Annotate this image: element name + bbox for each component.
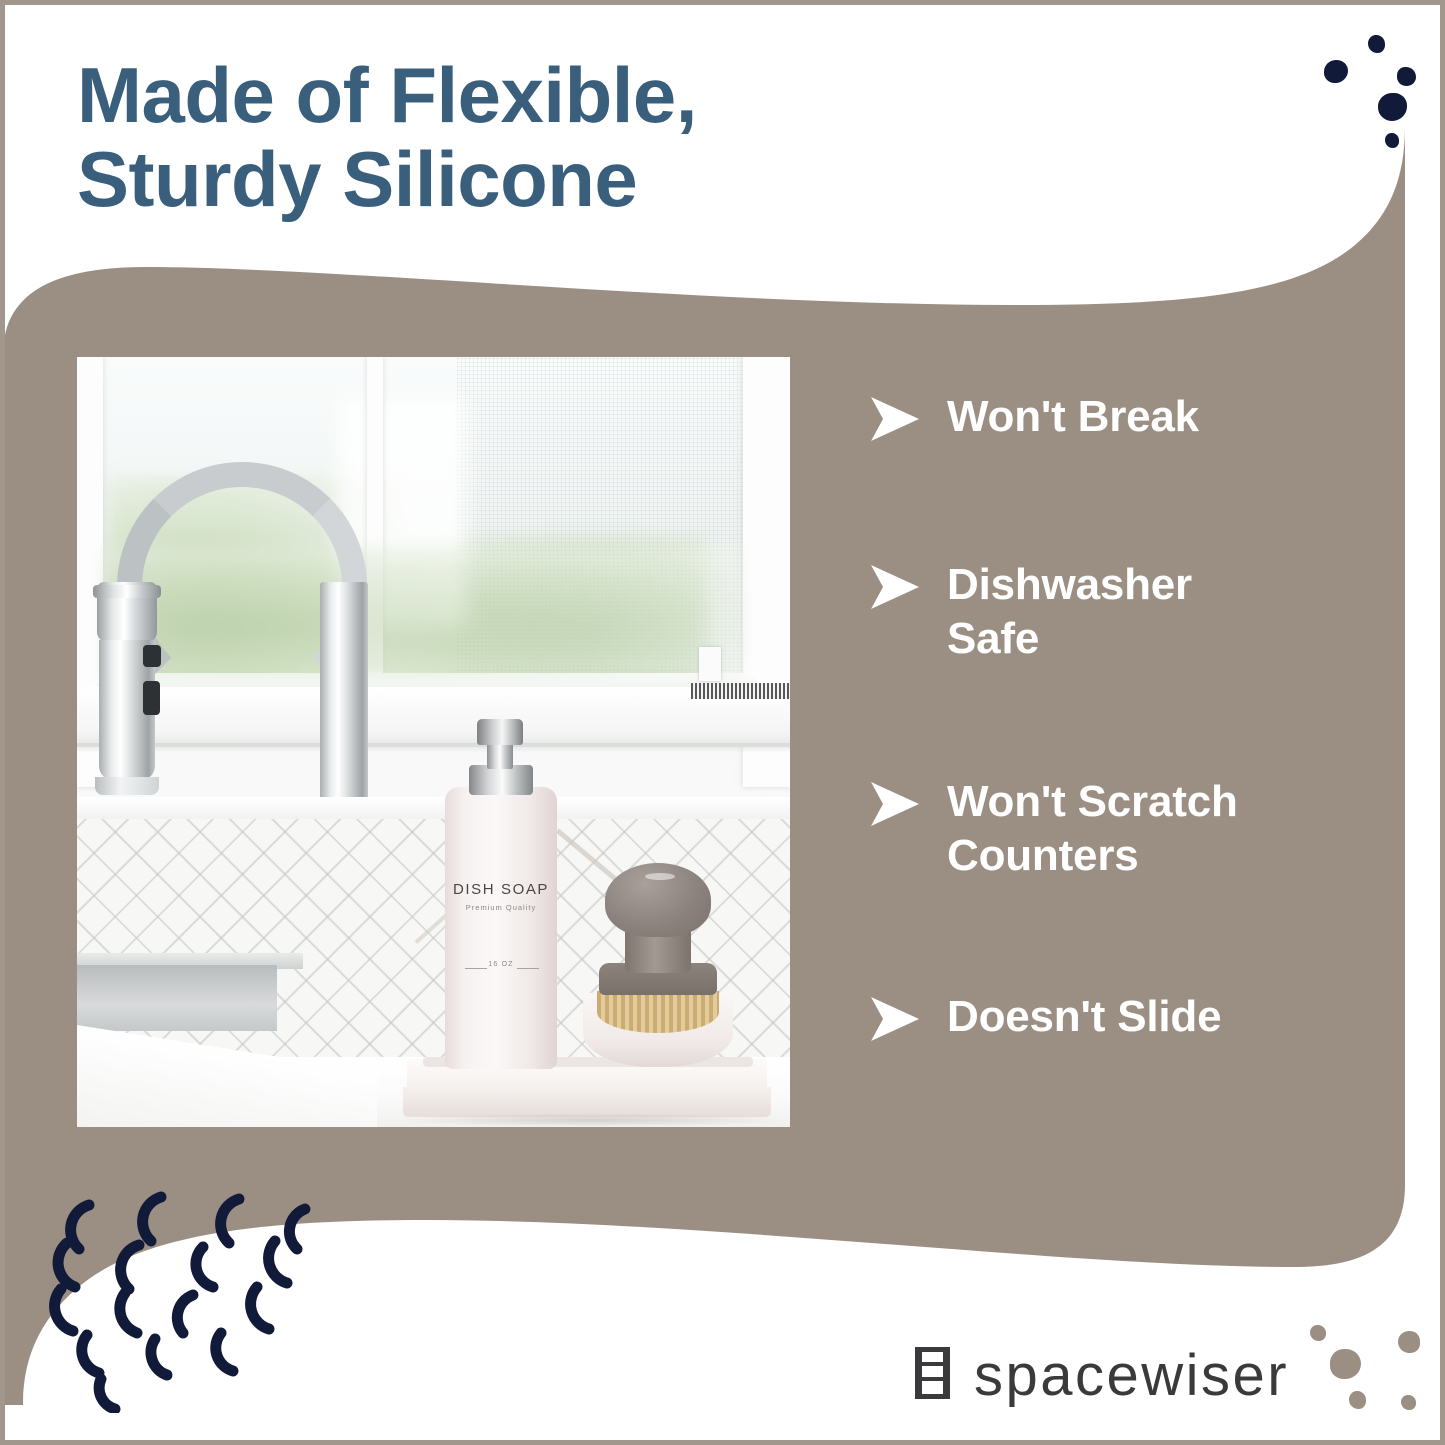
sink-basin bbox=[77, 965, 277, 1031]
decor-dot bbox=[1397, 67, 1416, 86]
tray-shadow bbox=[397, 1113, 787, 1127]
backsplash-ledge bbox=[77, 797, 790, 819]
decor-dot bbox=[1310, 1325, 1326, 1341]
soap-pump-head bbox=[477, 719, 523, 745]
shelf-icon bbox=[910, 1345, 956, 1406]
soap-pump-collar bbox=[469, 765, 533, 795]
decor-dot bbox=[1330, 1349, 1361, 1379]
brush-bristles bbox=[597, 991, 719, 1033]
decor-dot bbox=[1385, 133, 1399, 148]
window-sill-shadow bbox=[77, 743, 790, 753]
feature-label: Won't Break bbox=[947, 390, 1199, 444]
feature-label: Dishwasher Safe bbox=[947, 558, 1277, 665]
feature-item[interactable]: Doesn't Slide bbox=[867, 990, 1221, 1049]
window-sticker bbox=[691, 683, 790, 699]
soap-label-rule bbox=[517, 968, 539, 969]
feature-item[interactable]: Won't Break bbox=[867, 390, 1199, 449]
window-latch bbox=[699, 647, 721, 681]
arrow-right-icon bbox=[867, 394, 923, 449]
arrow-right-icon bbox=[867, 562, 923, 617]
arrow-right-icon bbox=[867, 994, 923, 1049]
faucet-sprayhead-ring bbox=[93, 585, 161, 598]
decor-dot bbox=[1324, 60, 1348, 83]
decor-dot bbox=[1398, 1331, 1420, 1353]
soap-label-subtitle: Premium Quality bbox=[445, 903, 557, 912]
decor-dot bbox=[1368, 35, 1385, 53]
brand-logo[interactable]: spacewiser bbox=[910, 1345, 1289, 1406]
faucet-spray-face bbox=[95, 777, 159, 795]
decor-dot bbox=[1349, 1391, 1366, 1409]
soap-bottle bbox=[445, 787, 557, 1069]
arrow-right-icon bbox=[867, 779, 923, 834]
decor-dot bbox=[1378, 93, 1407, 121]
feature-item[interactable]: Won't Scratch Counters bbox=[867, 775, 1327, 882]
soap-label-volume: 16 OZ bbox=[445, 961, 557, 968]
faucet-mode-button bbox=[143, 681, 160, 715]
decor-dot bbox=[1401, 1395, 1416, 1410]
feature-item[interactable]: Dishwasher Safe bbox=[867, 558, 1277, 665]
soap-label-title: DISH SOAP bbox=[445, 881, 557, 898]
feature-label: Doesn't Slide bbox=[947, 990, 1221, 1044]
poster-frame: Made of Flexible, Sturdy Silicone bbox=[0, 0, 1445, 1445]
brand-wordmark: spacewiser bbox=[974, 1347, 1289, 1405]
page-title: Made of Flexible, Sturdy Silicone bbox=[77, 53, 937, 221]
bottom-left-crescent-pattern bbox=[43, 1183, 353, 1413]
soap-label-rule bbox=[465, 968, 487, 969]
faucet-mode-button bbox=[143, 645, 161, 667]
feature-label: Won't Scratch Counters bbox=[947, 775, 1327, 882]
brush-knob-highlight bbox=[645, 873, 675, 880]
product-photo: DISH SOAP Premium Quality 16 OZ bbox=[77, 357, 790, 1127]
